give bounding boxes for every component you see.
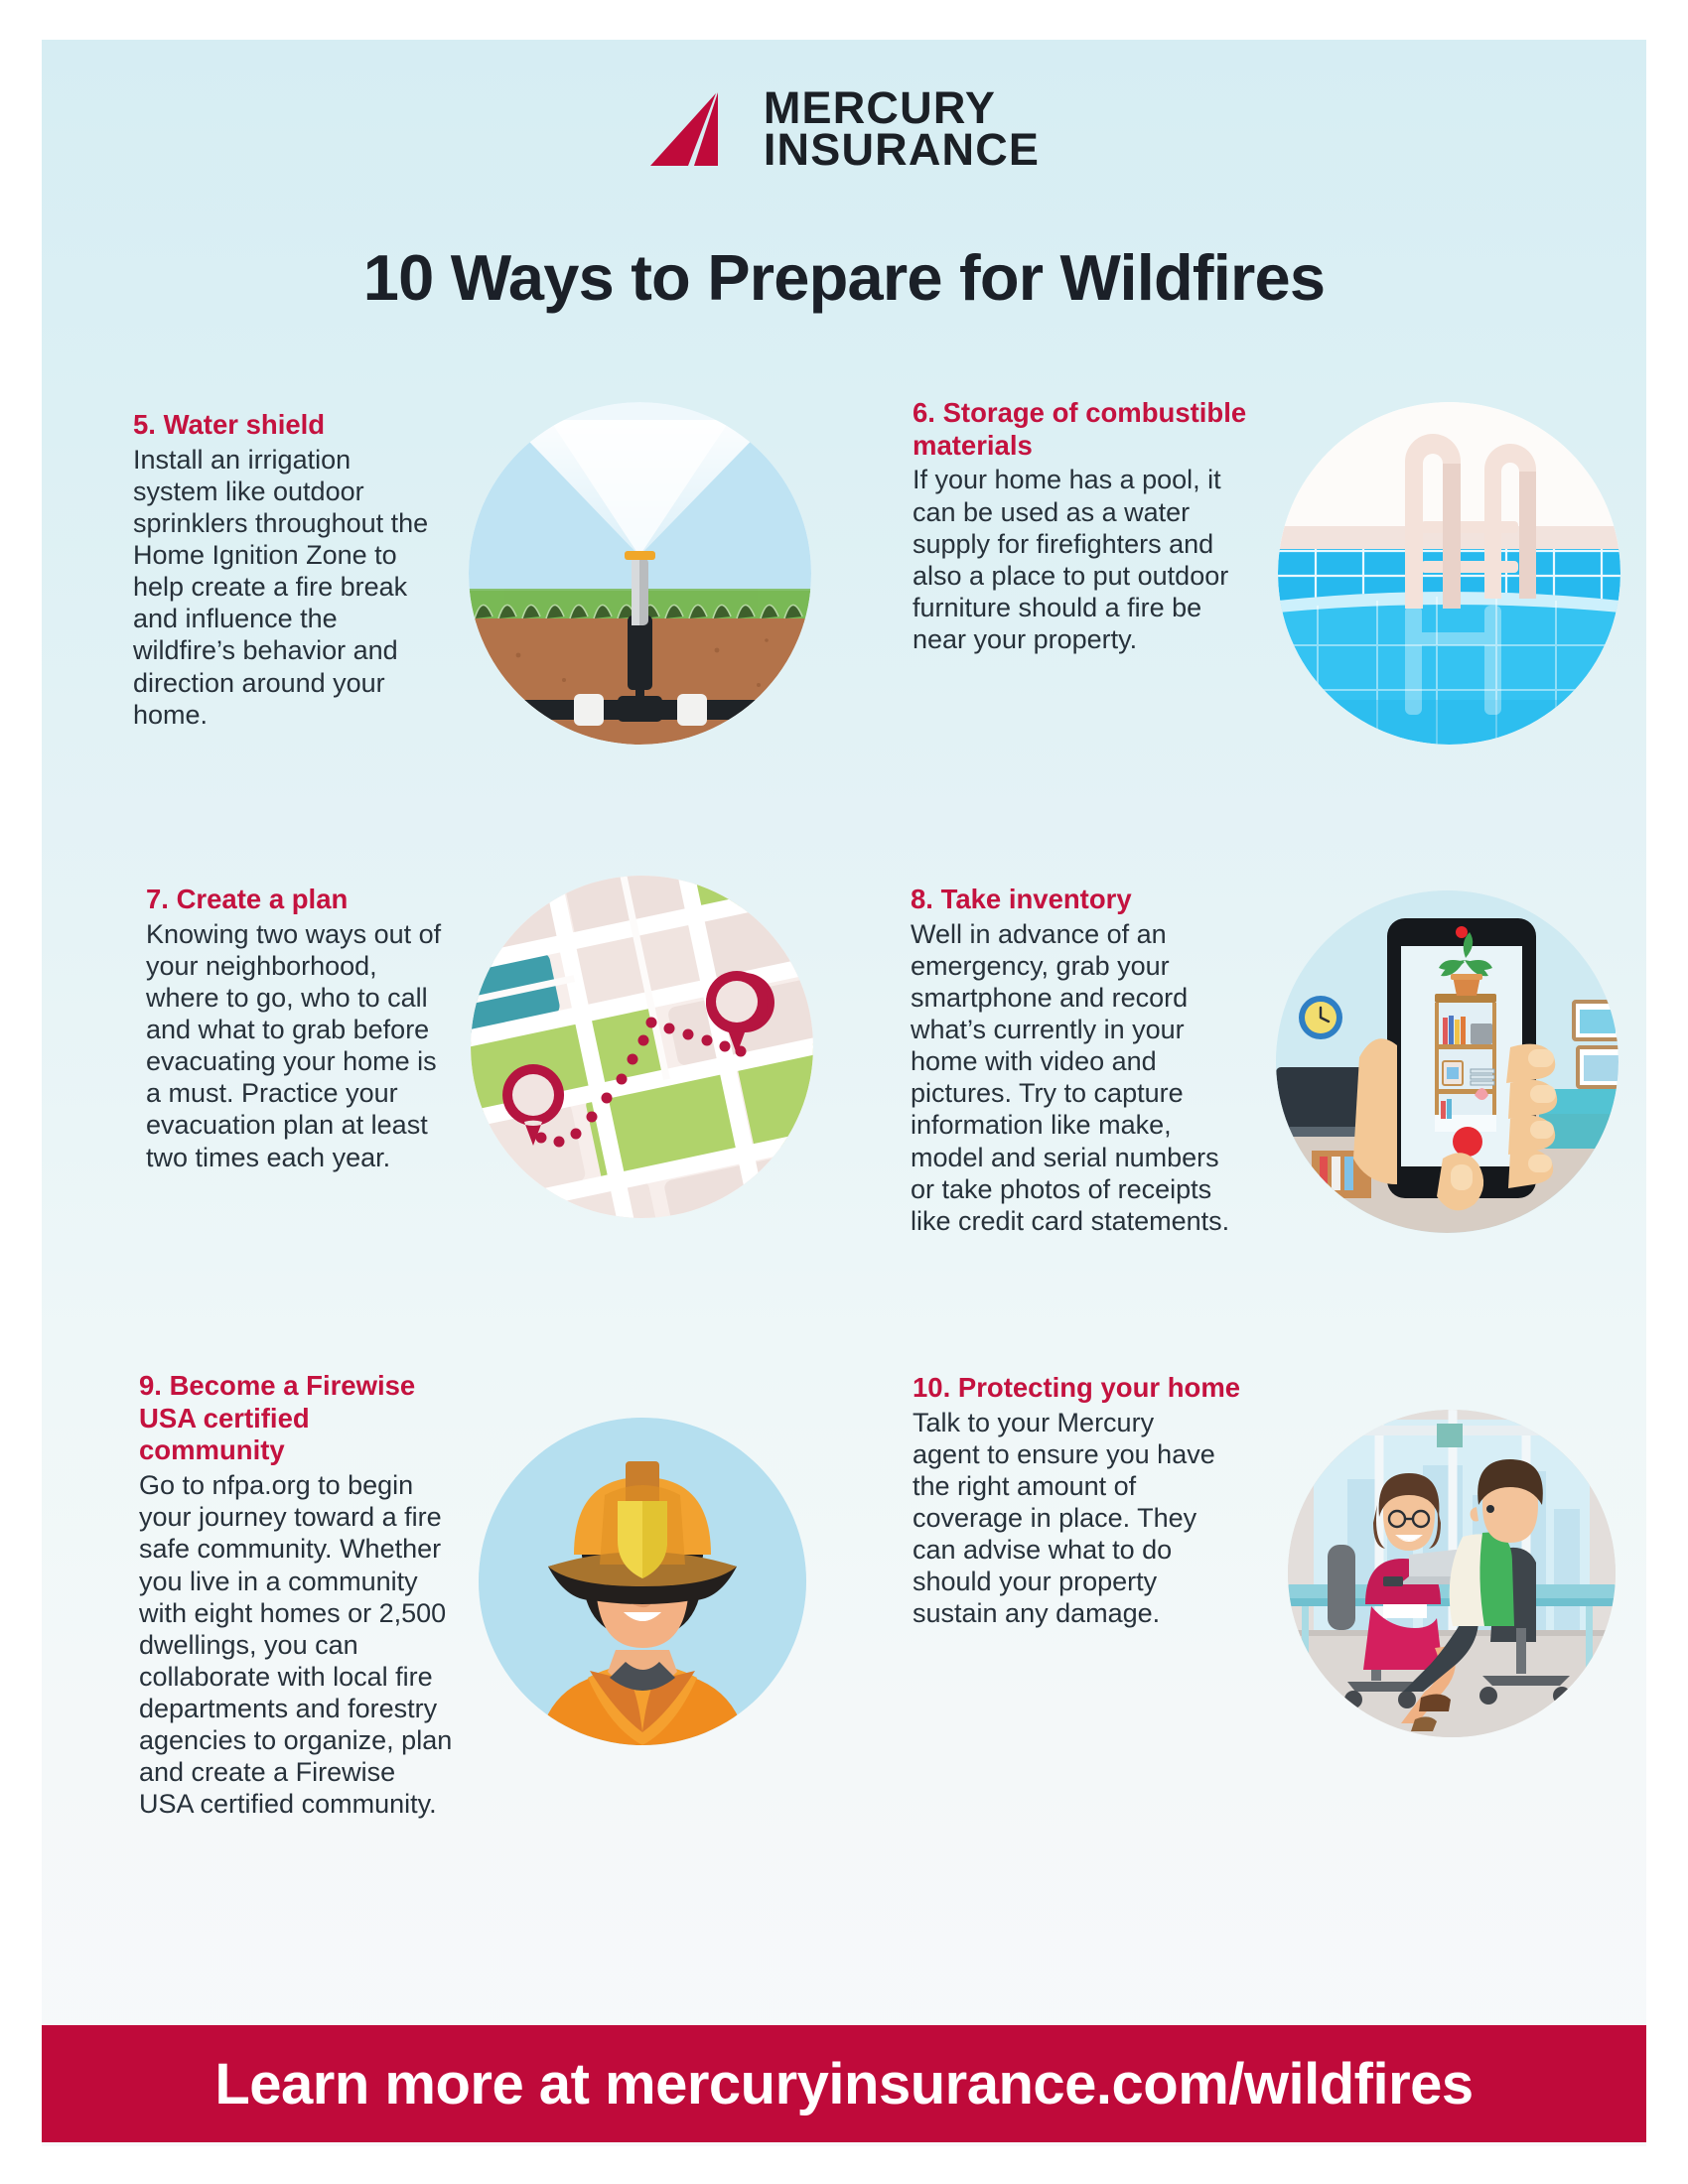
tip-heading-6: 6. Storage of combustible materials — [913, 397, 1260, 462]
tip-card-8: 8. Take inventory Well in advance of an … — [911, 884, 1238, 1237]
illustration-pool — [1278, 402, 1620, 745]
infographic-page: MERCURY INSURANCE 10 Ways to Prepare for… — [0, 0, 1688, 2184]
tip-body-5: Install an irrigation system like outdoo… — [133, 444, 441, 731]
brand-wordmark: MERCURY INSURANCE — [764, 87, 1040, 172]
tip-body-10: Talk to your Mercury agent to ensure you… — [913, 1407, 1220, 1630]
illustration-sprinkler — [469, 402, 811, 745]
illustration-tablet — [1276, 890, 1618, 1233]
hand-holding-tablet-recording-icon — [1276, 890, 1618, 1233]
footer-cta-banner[interactable]: Learn more at mercuryinsurance.com/wildf… — [42, 2025, 1646, 2142]
mercury-swoosh-icon — [648, 90, 746, 168]
tip-heading-10: 10. Protecting your home — [913, 1372, 1250, 1405]
wall-clock-icon — [1299, 996, 1342, 1039]
tip-card-6: 6. Storage of combustible materials If y… — [913, 397, 1260, 655]
tip-body-9: Go to nfpa.org to begin your journey tow… — [139, 1469, 455, 1820]
tip-heading-8: 8. Take inventory — [911, 884, 1238, 916]
brand-name-line1: MERCURY — [764, 87, 1040, 129]
record-button-icon — [1453, 1127, 1482, 1157]
swimming-pool-ladder-icon — [1278, 402, 1620, 745]
tip-card-7: 7. Create a plan Knowing two ways out of… — [146, 884, 449, 1173]
tip-heading-5: 5. Water shield — [133, 409, 441, 442]
illustration-firefighter — [479, 1418, 806, 1745]
brand-name-line2: INSURANCE — [764, 129, 1040, 171]
firefighter-portrait-icon — [479, 1418, 806, 1745]
tip-body-6: If your home has a pool, it can be used … — [913, 464, 1260, 655]
footer-cta-text: Learn more at mercuryinsurance.com/wildf… — [214, 2051, 1473, 2117]
tablet-screen-bookshelf — [1435, 994, 1496, 1132]
brand-logo: MERCURY INSURANCE — [42, 87, 1646, 172]
page-title: 10 Ways to Prepare for Wildfires — [42, 240, 1646, 315]
tip-card-10: 10. Protecting your home Talk to your Me… — [913, 1372, 1250, 1630]
tip-heading-9: 9. Become a Firewise USA certified commu… — [139, 1370, 455, 1467]
illustration-map — [471, 876, 813, 1218]
insurance-agent-meeting-icon — [1288, 1410, 1616, 1737]
tip-body-7: Knowing two ways out of your neighborhoo… — [146, 918, 449, 1173]
tip-body-8: Well in advance of an emergency, grab yo… — [911, 918, 1238, 1237]
tip-card-5: 5. Water shield Install an irrigation sy… — [133, 409, 441, 731]
tip-heading-7: 7. Create a plan — [146, 884, 449, 916]
sprinkler-irrigation-icon — [469, 402, 811, 745]
illustration-agent-meeting — [1288, 1410, 1616, 1737]
infographic-sheet: MERCURY INSURANCE 10 Ways to Prepare for… — [42, 40, 1646, 2146]
map-route-pins-icon — [471, 876, 813, 1218]
